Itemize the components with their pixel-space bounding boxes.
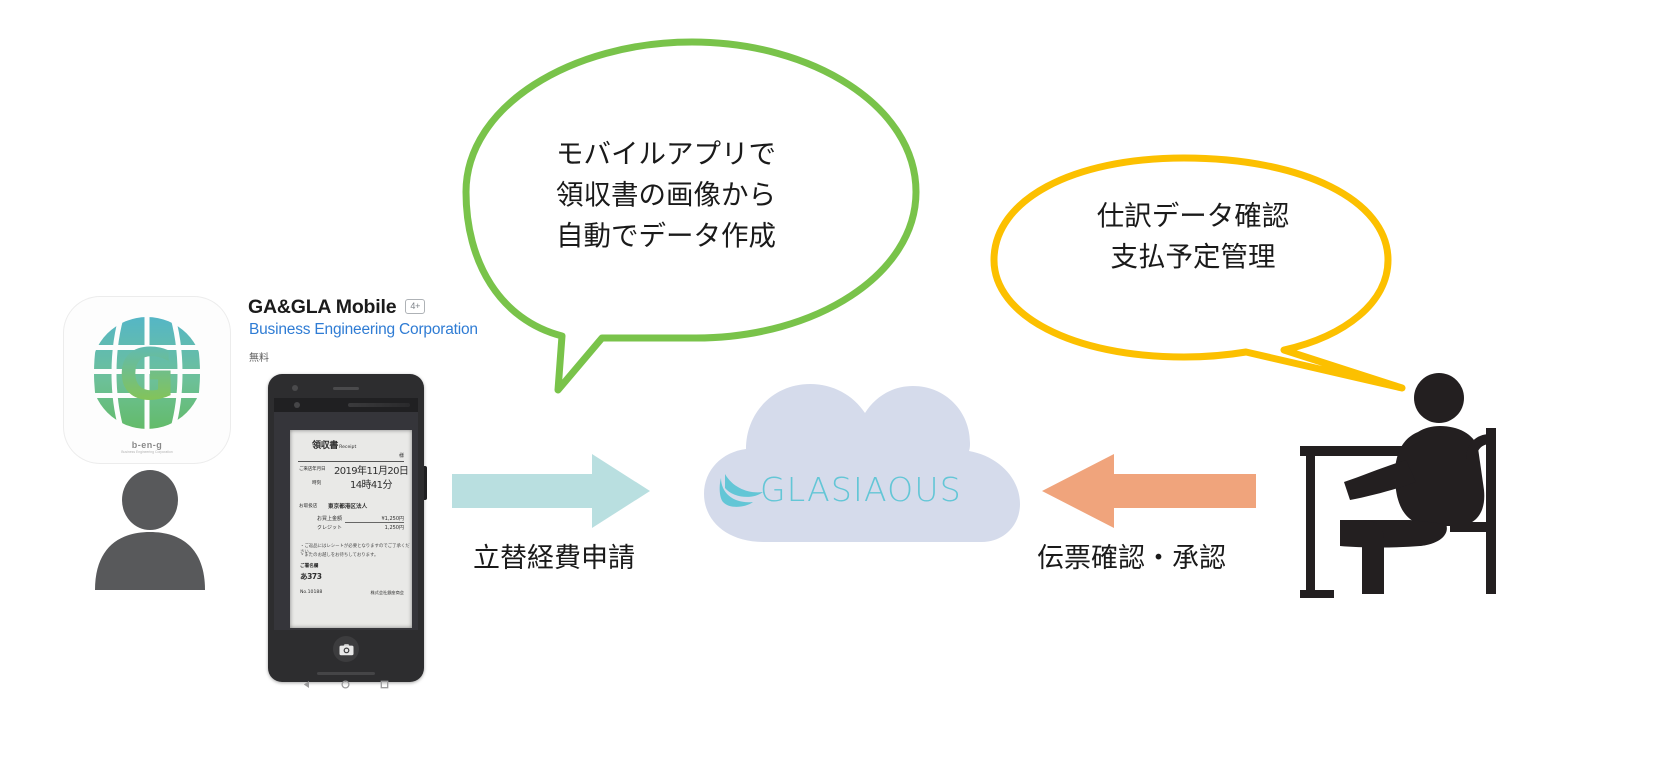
receipt-time-label: 時刻	[312, 480, 321, 486]
receipt-time-value: 14時41分	[350, 476, 392, 491]
receipt-footer-value: あ373	[300, 571, 322, 582]
receipt-footer-label: ご署名欄	[300, 563, 318, 569]
glasiaous-swoosh-icon	[719, 472, 765, 515]
smartphone-device: 領収書Receipt 様 ご来店年月日 2019年11月20日 時刻 14時41…	[268, 374, 424, 682]
phone-screen[interactable]: 領収書Receipt 様 ご来店年月日 2019年11月20日 時刻 14時41…	[274, 398, 418, 630]
receipt-store-suffix: 様	[399, 452, 404, 459]
camera-shutter-button[interactable]	[333, 636, 359, 662]
app-developer-link[interactable]: Business Engineering Corporation	[249, 321, 478, 339]
phone-earpiece	[333, 387, 359, 390]
receipt-credit-value: 1,250円	[385, 524, 404, 531]
receipt-note-2: ・またのお越しをお待ちしております。	[300, 552, 378, 558]
seated-accountant-icon	[1300, 368, 1530, 598]
receipt-date-label: ご来店年月日	[299, 466, 325, 472]
caption-approve-voucher: 伝票確認・承認	[1037, 536, 1226, 575]
receipt-corporate: 株式会社銀座商会	[370, 590, 404, 596]
receipt-payee-label: お取扱店	[299, 503, 317, 509]
glasiaous-logo-text: GLASIAOUS	[760, 470, 962, 509]
receipt-photo-preview[interactable]: 領収書Receipt 様 ご来店年月日 2019年11月20日 時刻 14時41…	[274, 412, 418, 630]
bubble-journal-check-text: 仕訳データ確認 支払予定管理	[1053, 196, 1333, 278]
arrow-submit-expense	[452, 452, 652, 535]
receipt-payee-value: 東京都港区法人	[328, 502, 367, 510]
receipt-date-value: 2019年11月20日	[334, 462, 408, 477]
receipt-number: No.10188	[300, 590, 322, 595]
app-price-label: 無料	[249, 349, 269, 364]
receipt-credit-label: クレジット	[317, 524, 342, 531]
receipt-title: 領収書Receipt	[312, 438, 356, 451]
app-name-label: GA&GLA Mobile4+	[248, 296, 425, 319]
beng-logo: b-en-g Business Engineering Corporation	[64, 440, 230, 454]
diagram-canvas: G G b-en-g Business Engineering Corporat…	[0, 0, 1680, 772]
receipt-amount-value: ¥1,250円	[382, 515, 405, 522]
back-triangle-icon[interactable]	[302, 676, 311, 685]
receipt-amount-label: お買上金額	[317, 515, 342, 522]
ga-gla-mobile-app-icon: G G b-en-g Business Engineering Corporat…	[64, 297, 230, 463]
receipt-amount-divider	[345, 522, 404, 523]
phone-power-button[interactable]	[424, 466, 427, 500]
app-name-text: GA&GLA Mobile	[248, 296, 396, 318]
phone-front-camera	[292, 385, 298, 391]
phone-navigation-bar	[268, 672, 424, 694]
employee-silhouette-icon	[85, 470, 215, 590]
receipt-paper: 領収書Receipt 様 ご来店年月日 2019年11月20日 時刻 14時41…	[290, 430, 412, 628]
globe-icon: G G	[83, 309, 211, 437]
phone-speaker-grill	[317, 672, 375, 675]
home-circle-icon[interactable]	[341, 676, 350, 685]
beng-logo-sub: Business Engineering Corporation	[64, 450, 230, 454]
recents-square-icon[interactable]	[380, 676, 389, 685]
bubble-mobile-app-text: モバイルアプリで 領収書の画像から 自動でデータ作成	[556, 134, 856, 257]
phone-status-bar	[274, 398, 418, 412]
age-rating-badge: 4+	[405, 299, 425, 314]
arrow-approve-voucher	[1040, 452, 1256, 535]
caption-submit-expense: 立替経費申請	[473, 536, 635, 575]
camera-icon	[339, 643, 354, 656]
